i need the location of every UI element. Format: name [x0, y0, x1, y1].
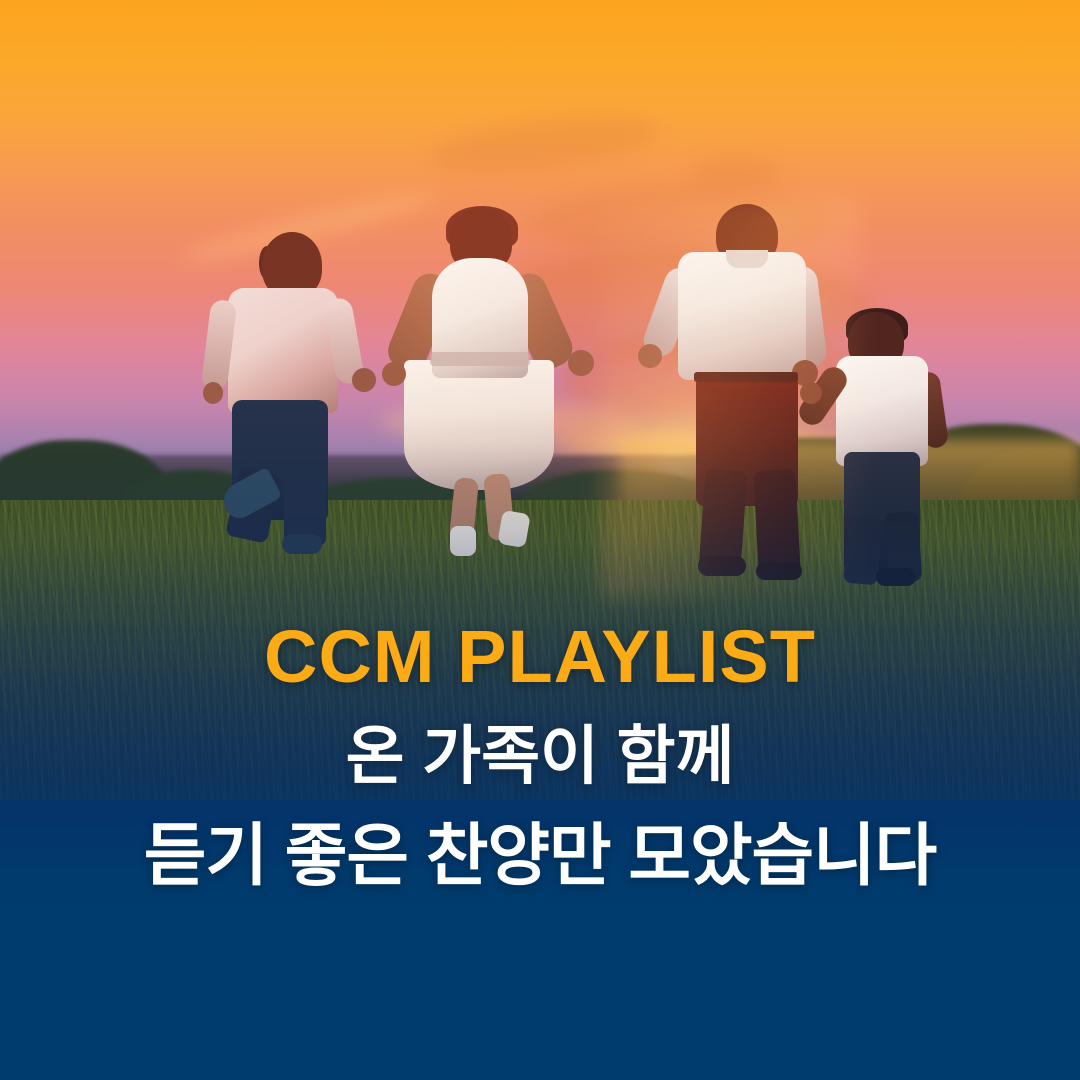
poster-subtitle-line-2: 듣기 좋은 찬양만 모았습니다	[0, 822, 1080, 890]
poster-subtitle-line-1: 온 가족이 함께	[0, 724, 1080, 788]
poster-canvas: CCM PLAYLIST 온 가족이 함께 듣기 좋은 찬양만 모았습니다	[0, 0, 1080, 1080]
poster-title: CCM PLAYLIST	[0, 620, 1080, 694]
brand-color-band	[0, 920, 1080, 1080]
blue-gradient-overlay	[0, 0, 1080, 1080]
caption-block: CCM PLAYLIST 온 가족이 함께 듣기 좋은 찬양만 모았습니다	[0, 620, 1080, 890]
